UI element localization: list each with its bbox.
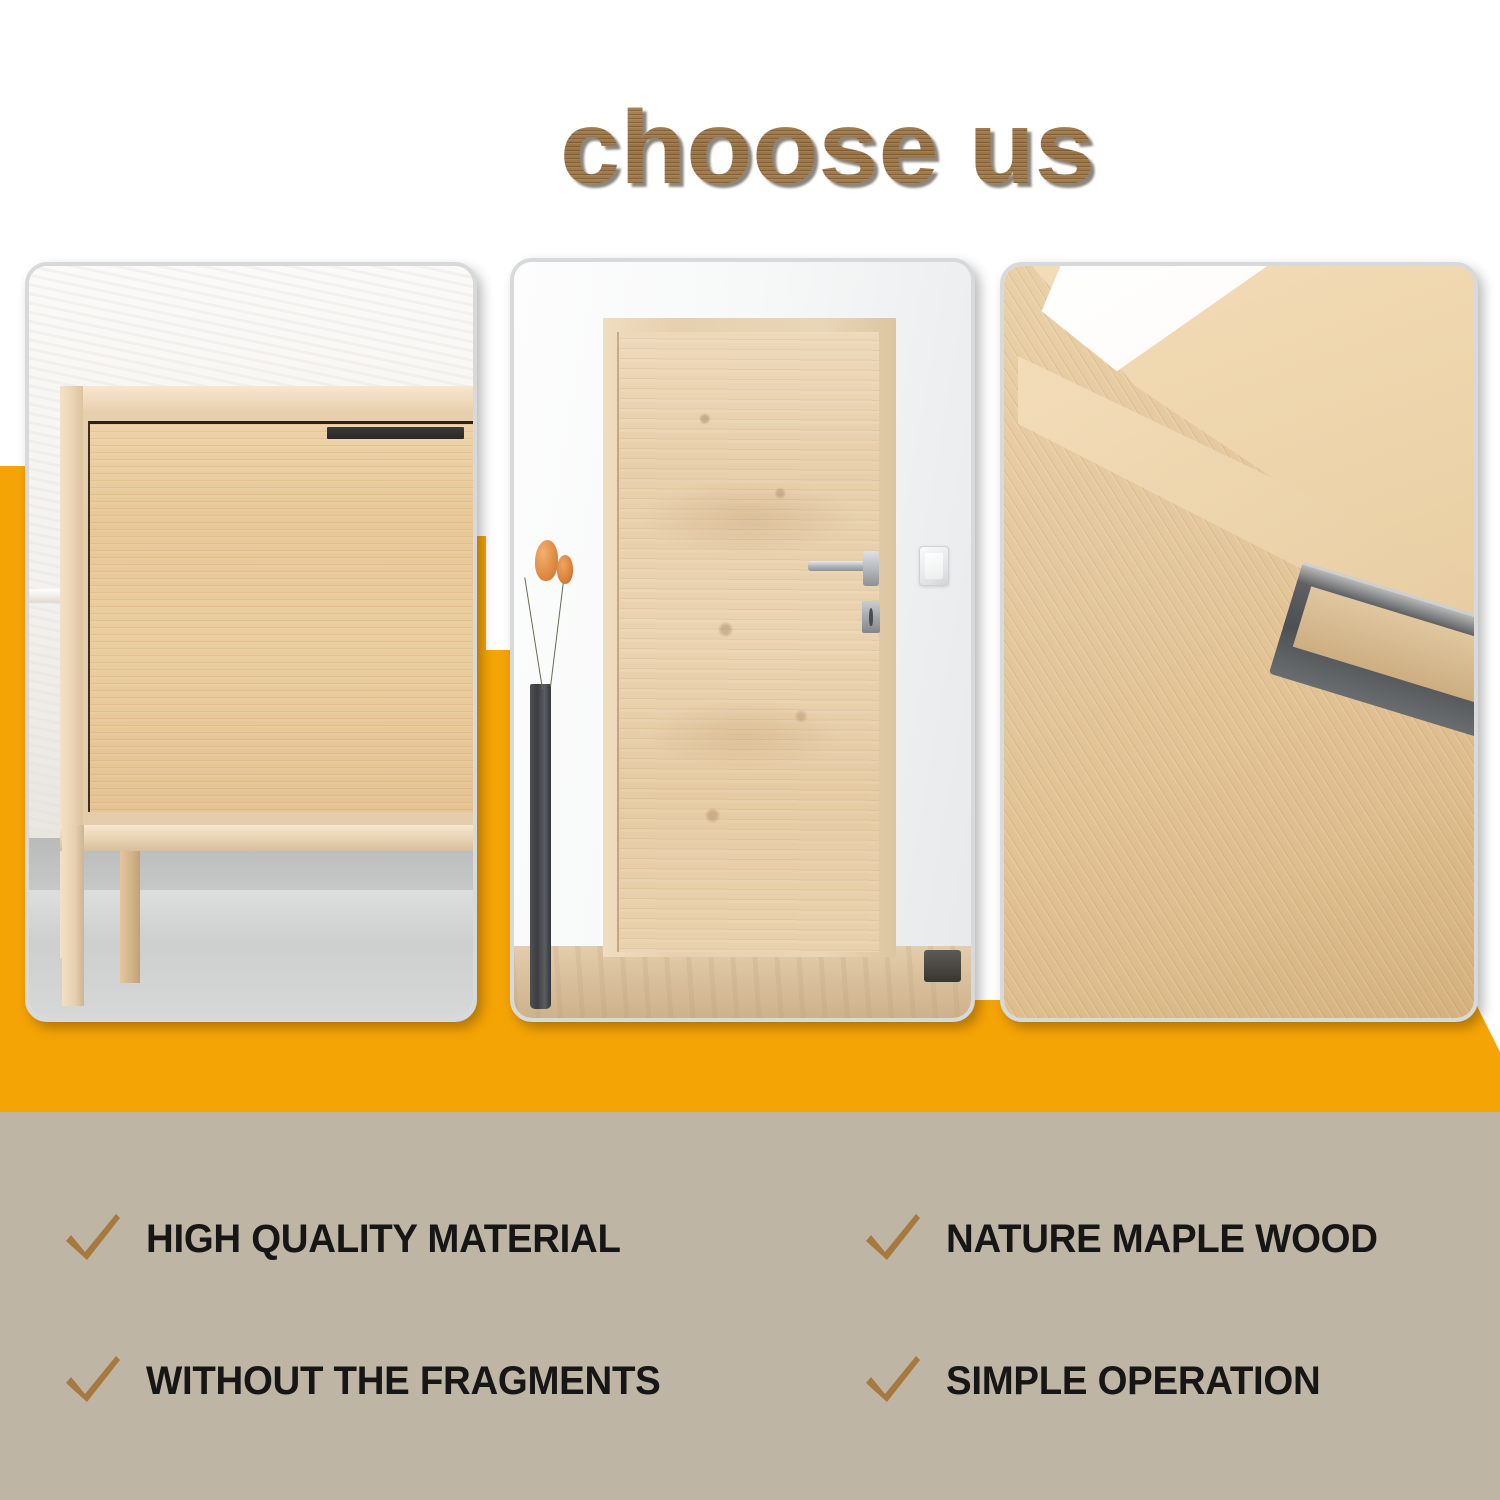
drawer-scene [1004, 266, 1474, 1018]
page-title-choose-us: choose us [560, 96, 1095, 200]
floor-object [924, 950, 961, 982]
wood-floor [514, 946, 971, 1018]
floor-reflection [29, 890, 473, 943]
cabinet-leg-rear [120, 851, 140, 983]
feature-label: WITHOUT THE FRAGMENTS [146, 1359, 660, 1404]
feature-item-simple-operation: SIMPLE OPERATION [862, 1350, 1336, 1412]
door-lever-handle [808, 561, 870, 571]
door-handle-rose [863, 551, 879, 586]
cabinet-leg-front [62, 825, 84, 1005]
cabinet-scene [29, 266, 473, 1018]
check-icon [62, 1208, 124, 1270]
keyhole-icon [869, 608, 874, 626]
feature-list: HIGH QUALITY MATERIAL NATURE MAPLE WOOD … [0, 1112, 1500, 1500]
dried-poppy-small [557, 555, 573, 584]
header: WHY choose us [0, 0, 1500, 240]
page-title-why: WHY [60, 34, 464, 186]
infographic-root: WHY choose us [0, 0, 1500, 1500]
floor-vase [530, 684, 551, 1009]
feature-item-without-the-fragments: WITHOUT THE FRAGMENTS [62, 1350, 682, 1412]
feature-label: NATURE MAPLE WOOD [946, 1217, 1378, 1262]
light-switch [919, 546, 949, 586]
photo-card-drawer-closeup [1000, 262, 1478, 1022]
feature-label: HIGH QUALITY MATERIAL [146, 1217, 621, 1262]
cabinet-top-edge [60, 386, 473, 409]
photo-card-cabinet-sideboard [25, 262, 477, 1022]
cabinet-drawer-front [88, 421, 473, 812]
dried-poppy-large [535, 540, 558, 581]
feature-item-nature-maple-wood: NATURE MAPLE WOOD [862, 1208, 1396, 1270]
check-icon [862, 1350, 924, 1412]
feature-label: SIMPLE OPERATION [946, 1359, 1320, 1404]
door-scene [514, 262, 971, 1018]
check-icon [862, 1208, 924, 1270]
feature-item-high-quality-material: HIGH QUALITY MATERIAL [62, 1208, 640, 1270]
door-leaf [617, 332, 878, 953]
check-icon [62, 1350, 124, 1412]
photo-card-interior-door [510, 258, 975, 1022]
cabinet-bar-handle [327, 427, 465, 439]
cabinet-bottom-rail [60, 825, 473, 851]
